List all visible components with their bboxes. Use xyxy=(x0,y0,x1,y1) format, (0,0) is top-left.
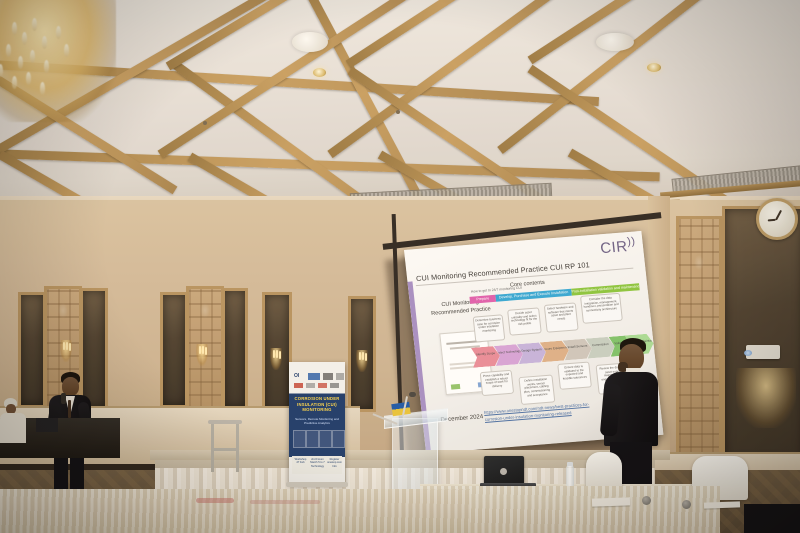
cir-logo-text: CIR xyxy=(599,238,628,257)
ceiling-downlight xyxy=(313,68,326,77)
wall-clock xyxy=(756,198,798,240)
banner-column: Workshop 27 Feb xyxy=(293,458,308,465)
damask-wall-panel xyxy=(676,216,722,464)
wall-sconce xyxy=(60,340,72,362)
callout-bottom: Ensure data is validated to the expected… xyxy=(557,361,592,389)
banner-column: Register onestop.com Info xyxy=(327,458,342,468)
banner-subtitle: Sensors, Remote Monitoring and Predictiv… xyxy=(293,418,341,426)
table-microphone xyxy=(682,500,691,509)
lectern-microphone-head xyxy=(409,392,416,397)
conference-room-photo: CIR)) CUI Monitoring Recommended Practic… xyxy=(0,0,800,533)
banner-title: CORROSION UNDER INSULATION (CUI) MONITOR… xyxy=(293,396,341,413)
stage-front-table xyxy=(0,489,470,533)
banner-column: 2nd Forum March 5 to 7 Technology xyxy=(310,458,325,468)
ceiling-speaker xyxy=(292,32,328,52)
handheld-microphone xyxy=(61,393,66,404)
sprinkler-head xyxy=(396,110,400,114)
ceiling-speaker xyxy=(596,33,634,51)
paper-document xyxy=(704,501,740,508)
callout-top: Decide asset criticality and select tech… xyxy=(507,307,542,335)
wall-mirror-strip xyxy=(222,288,248,410)
banner-base xyxy=(286,482,348,487)
chandelier-reflection xyxy=(736,368,796,428)
ceiling-beam xyxy=(528,0,751,64)
wall-mirror-strip xyxy=(160,292,188,408)
rollup-banner: OI CORROSION UNDER INSULATION (CUI) MONI… xyxy=(289,362,345,484)
desk-flag xyxy=(391,402,410,416)
signal-wave-icon: )) xyxy=(626,235,636,248)
coffered-ceiling xyxy=(0,0,800,215)
thobe xyxy=(0,413,26,443)
bar-stool xyxy=(208,420,242,472)
callout-bottom: Define installation works, sensor placem… xyxy=(518,374,555,405)
callout-top: Select hardware and software that meets … xyxy=(544,302,579,332)
water-bottle xyxy=(566,466,574,488)
ceiling-downlight xyxy=(647,63,661,72)
cir-logo: CIR)) xyxy=(599,235,637,257)
banner-sponsor-logos: OI xyxy=(292,366,342,390)
callout-top: Consider the data integration, managemen… xyxy=(580,293,623,324)
paper-document xyxy=(592,497,630,506)
table-runner-accent xyxy=(196,498,234,503)
sprinkler-head xyxy=(203,121,207,125)
acrylic-lectern xyxy=(392,418,438,492)
callout-bottom: Prove capability and establish a robust … xyxy=(480,370,515,396)
wall-sconce xyxy=(356,350,368,372)
table-runner-accent xyxy=(250,500,320,504)
open-laptop-side xyxy=(36,418,58,432)
person-seated-attendee xyxy=(0,398,30,448)
wall-mirror-strip xyxy=(18,292,46,408)
dark-foreground-object xyxy=(744,504,800,533)
table-microphone xyxy=(642,496,651,505)
necktie xyxy=(68,400,71,418)
banner-header-logo: OI xyxy=(294,373,299,379)
crystal-chandelier xyxy=(0,0,116,122)
callout-top: Determine business case for corrosion un… xyxy=(473,314,506,342)
wall-sconce xyxy=(196,344,208,366)
slide-source-url[interactable]: https://www.onestopndt.com/ndt-news/best… xyxy=(484,400,605,423)
laptop-logo-icon xyxy=(500,468,507,475)
wall-sconce xyxy=(270,348,282,370)
projector-lens-icon xyxy=(744,350,752,356)
